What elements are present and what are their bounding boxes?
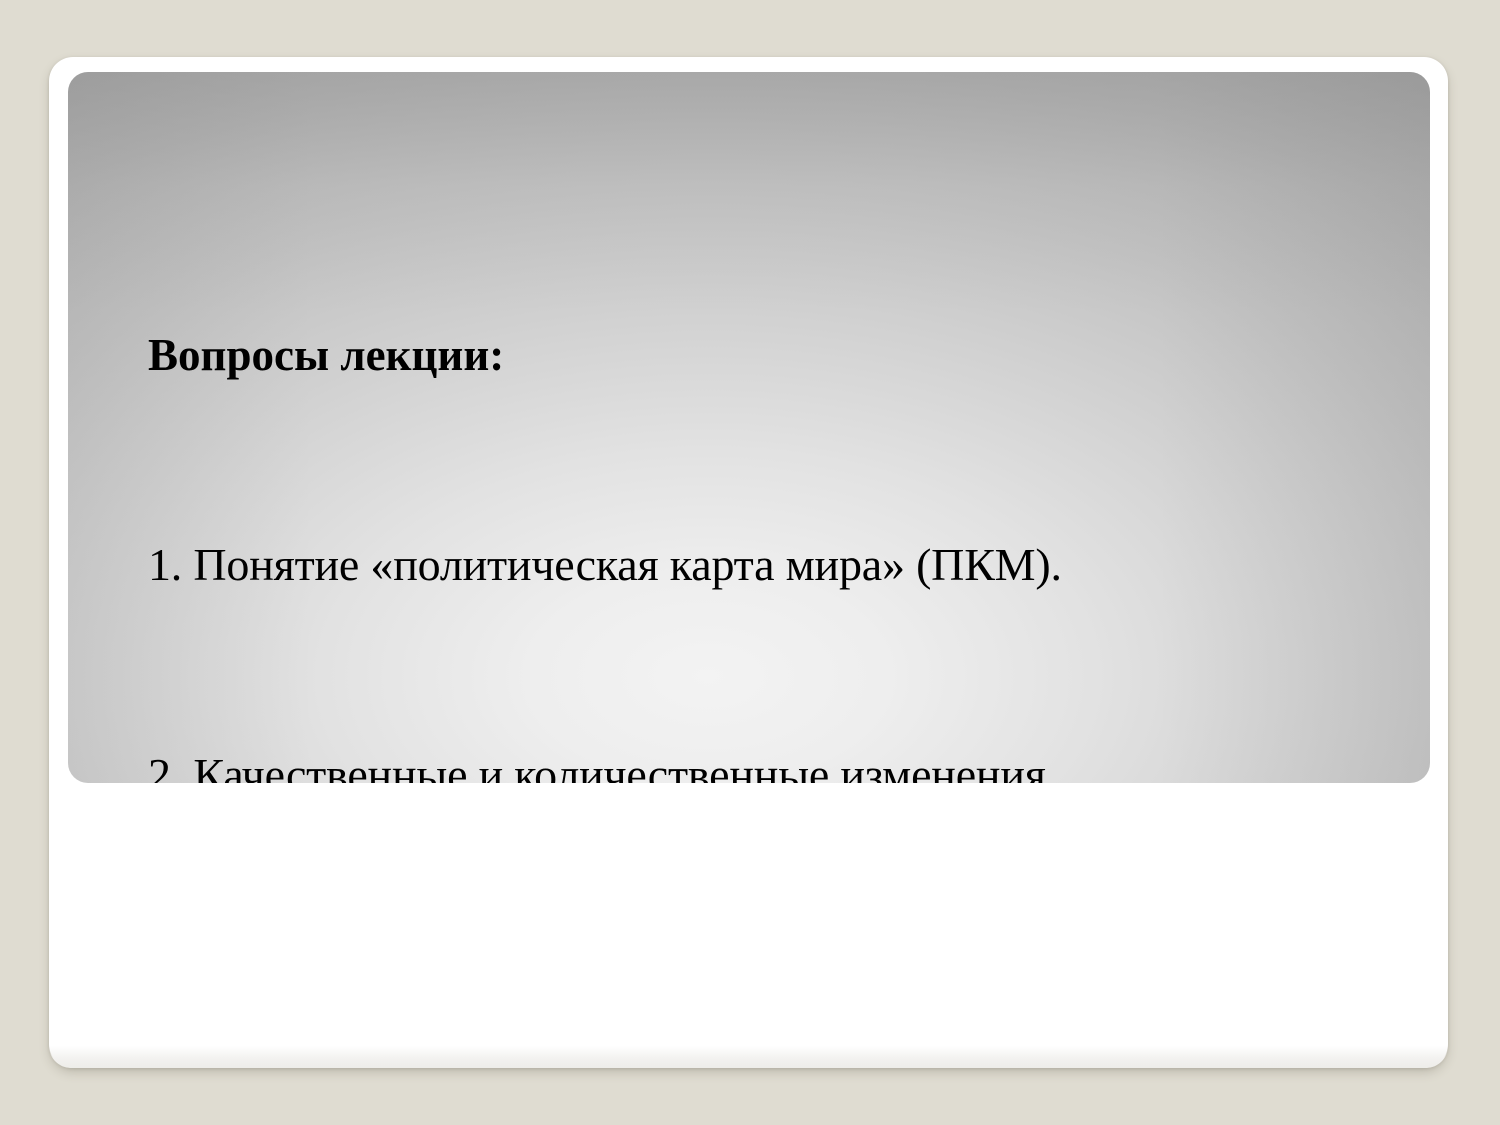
slide-stage: Вопросы лекции: 1. Понятие «политическая…: [0, 0, 1500, 1125]
slide-heading: Вопросы лекции:: [148, 320, 1403, 390]
slide-content-panel: Вопросы лекции: 1. Понятие «политическая…: [68, 72, 1430, 783]
lecture-questions-text-block: Вопросы лекции: 1. Понятие «политическая…: [148, 180, 1403, 783]
question-item-2: 2. Качественные и количественные изменен…: [148, 740, 1403, 783]
slide-card: Вопросы лекции: 1. Понятие «политическая…: [49, 57, 1448, 1068]
question-item-1: 1. Понятие «политическая карта мира» (ПК…: [148, 530, 1403, 600]
